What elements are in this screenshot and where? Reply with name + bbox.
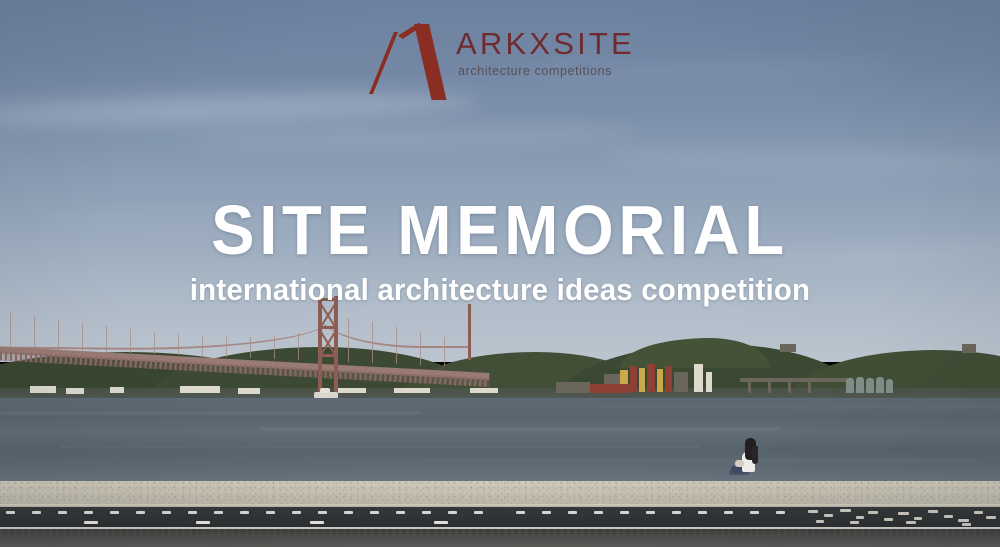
road-marking — [310, 521, 324, 524]
a-mark-right-stroke — [414, 24, 447, 100]
port-structure — [657, 369, 663, 392]
bridge-hanger — [82, 323, 83, 351]
pavement-stone — [850, 521, 859, 524]
pavement-stone — [898, 512, 909, 515]
person-arm — [735, 460, 744, 467]
pavement-stone — [928, 510, 938, 513]
storage-silo — [876, 377, 884, 393]
bridge-hanger — [298, 333, 299, 360]
road-marking — [396, 511, 405, 514]
hilltop-building — [962, 344, 976, 353]
bridge-pylon — [468, 304, 471, 360]
pavement-stone — [884, 518, 893, 521]
river-water — [0, 398, 1000, 484]
person-hair — [752, 446, 758, 464]
water-ripple — [420, 460, 980, 462]
bridge-tower-leg — [334, 296, 338, 400]
road-marking — [646, 511, 655, 514]
road-marking — [266, 511, 275, 514]
road-marking — [750, 511, 759, 514]
bridge-hanger — [372, 322, 373, 363]
brand-tagline: architecture competitions — [458, 65, 612, 78]
road-marking — [136, 511, 145, 514]
road-marking — [542, 511, 551, 514]
road-marking — [162, 511, 171, 514]
bridge-hanger — [250, 337, 251, 358]
road-marking — [58, 511, 67, 514]
bridge-hanger — [274, 336, 275, 359]
road-marking — [620, 511, 629, 514]
road-marking — [422, 511, 431, 514]
road-marking — [698, 511, 707, 514]
road-marking — [196, 521, 210, 524]
bridge-tower-leg — [318, 296, 322, 400]
road-marking — [474, 511, 483, 514]
pavement-stone — [974, 511, 983, 514]
bridge-hanger — [34, 316, 35, 349]
brand-logo[interactable]: ARKXSITE architecture competitions — [388, 24, 624, 88]
arkxsite-a-mark-icon — [388, 24, 450, 100]
viaduct-pier — [788, 382, 791, 393]
boat-cabin — [320, 388, 330, 393]
hilltop-building — [780, 344, 796, 352]
bridge-hanger — [178, 334, 179, 355]
pavement-stone — [856, 516, 864, 519]
bridge-hanger — [154, 332, 155, 354]
suspension-bridge — [0, 290, 480, 410]
port-structure — [639, 368, 645, 392]
pavement-stone — [986, 516, 996, 519]
road-marking — [594, 511, 603, 514]
road-marking — [110, 511, 119, 514]
poster-headline: SITE MEMORIAL — [35, 195, 965, 265]
pavement-stone — [944, 515, 953, 518]
water-ripple — [0, 412, 420, 414]
port-crane — [665, 366, 672, 392]
bridge-hanger — [444, 337, 445, 366]
port-crane — [647, 364, 655, 392]
viaduct-pier — [808, 382, 811, 393]
bridge-hanger — [58, 320, 59, 350]
pavement-stone — [958, 519, 969, 522]
moored-ship — [556, 382, 590, 393]
water-ripple — [260, 428, 780, 430]
road-marking — [214, 511, 223, 514]
road-marking — [292, 511, 301, 514]
poster-subheadline: international architecture ideas competi… — [25, 274, 975, 305]
storage-silo — [846, 378, 854, 393]
road-marking — [672, 511, 681, 514]
port-structure — [674, 372, 688, 392]
port-tower — [706, 372, 712, 392]
bridge-hanger — [130, 329, 131, 353]
road-marking — [84, 511, 93, 514]
road-marking — [240, 511, 249, 514]
port-tower — [694, 364, 703, 392]
moored-ship — [590, 384, 630, 393]
bridge-hanger — [396, 327, 397, 364]
viaduct-pier — [768, 382, 771, 393]
competition-poster: ARKXSITE architecture competitions SITE … — [0, 0, 1000, 547]
road-marking — [516, 511, 525, 514]
bridge-hanger — [10, 312, 11, 348]
pavement-stone — [816, 520, 824, 523]
port-crane — [630, 366, 637, 392]
road-marking — [724, 511, 733, 514]
road-marking — [344, 511, 353, 514]
bridge-hanger — [420, 332, 421, 365]
road-marking — [370, 511, 379, 514]
road-marking — [448, 511, 457, 514]
road-marking — [776, 511, 785, 514]
road-marking — [568, 511, 577, 514]
viaduct-deck — [740, 378, 850, 382]
viaduct-pier — [748, 382, 751, 393]
pavement-stone — [824, 514, 833, 517]
road-marking — [32, 511, 41, 514]
pavement-stone — [808, 510, 818, 513]
bridge-hanger — [348, 318, 349, 362]
road-marking — [434, 521, 448, 524]
storage-silo — [886, 379, 893, 393]
brand-wordmark: ARKXSITE — [456, 28, 635, 59]
water-ripple — [60, 446, 700, 448]
bridge-hanger — [226, 337, 227, 357]
road-marking — [188, 511, 197, 514]
pavement-stone — [914, 517, 922, 520]
road-marking — [84, 521, 98, 524]
pavement-grit — [0, 529, 1000, 535]
bridge-hanger — [202, 336, 203, 356]
water-ripple — [600, 406, 1000, 408]
road-marking — [6, 511, 15, 514]
storage-silo — [856, 377, 864, 393]
bridge-hanger — [106, 326, 107, 352]
pavement-stone — [962, 523, 971, 526]
pavement-stone — [868, 511, 878, 514]
pavement-stone — [840, 509, 851, 512]
storage-silo — [866, 378, 874, 393]
road-marking — [318, 511, 327, 514]
pavement-stone — [906, 521, 916, 524]
